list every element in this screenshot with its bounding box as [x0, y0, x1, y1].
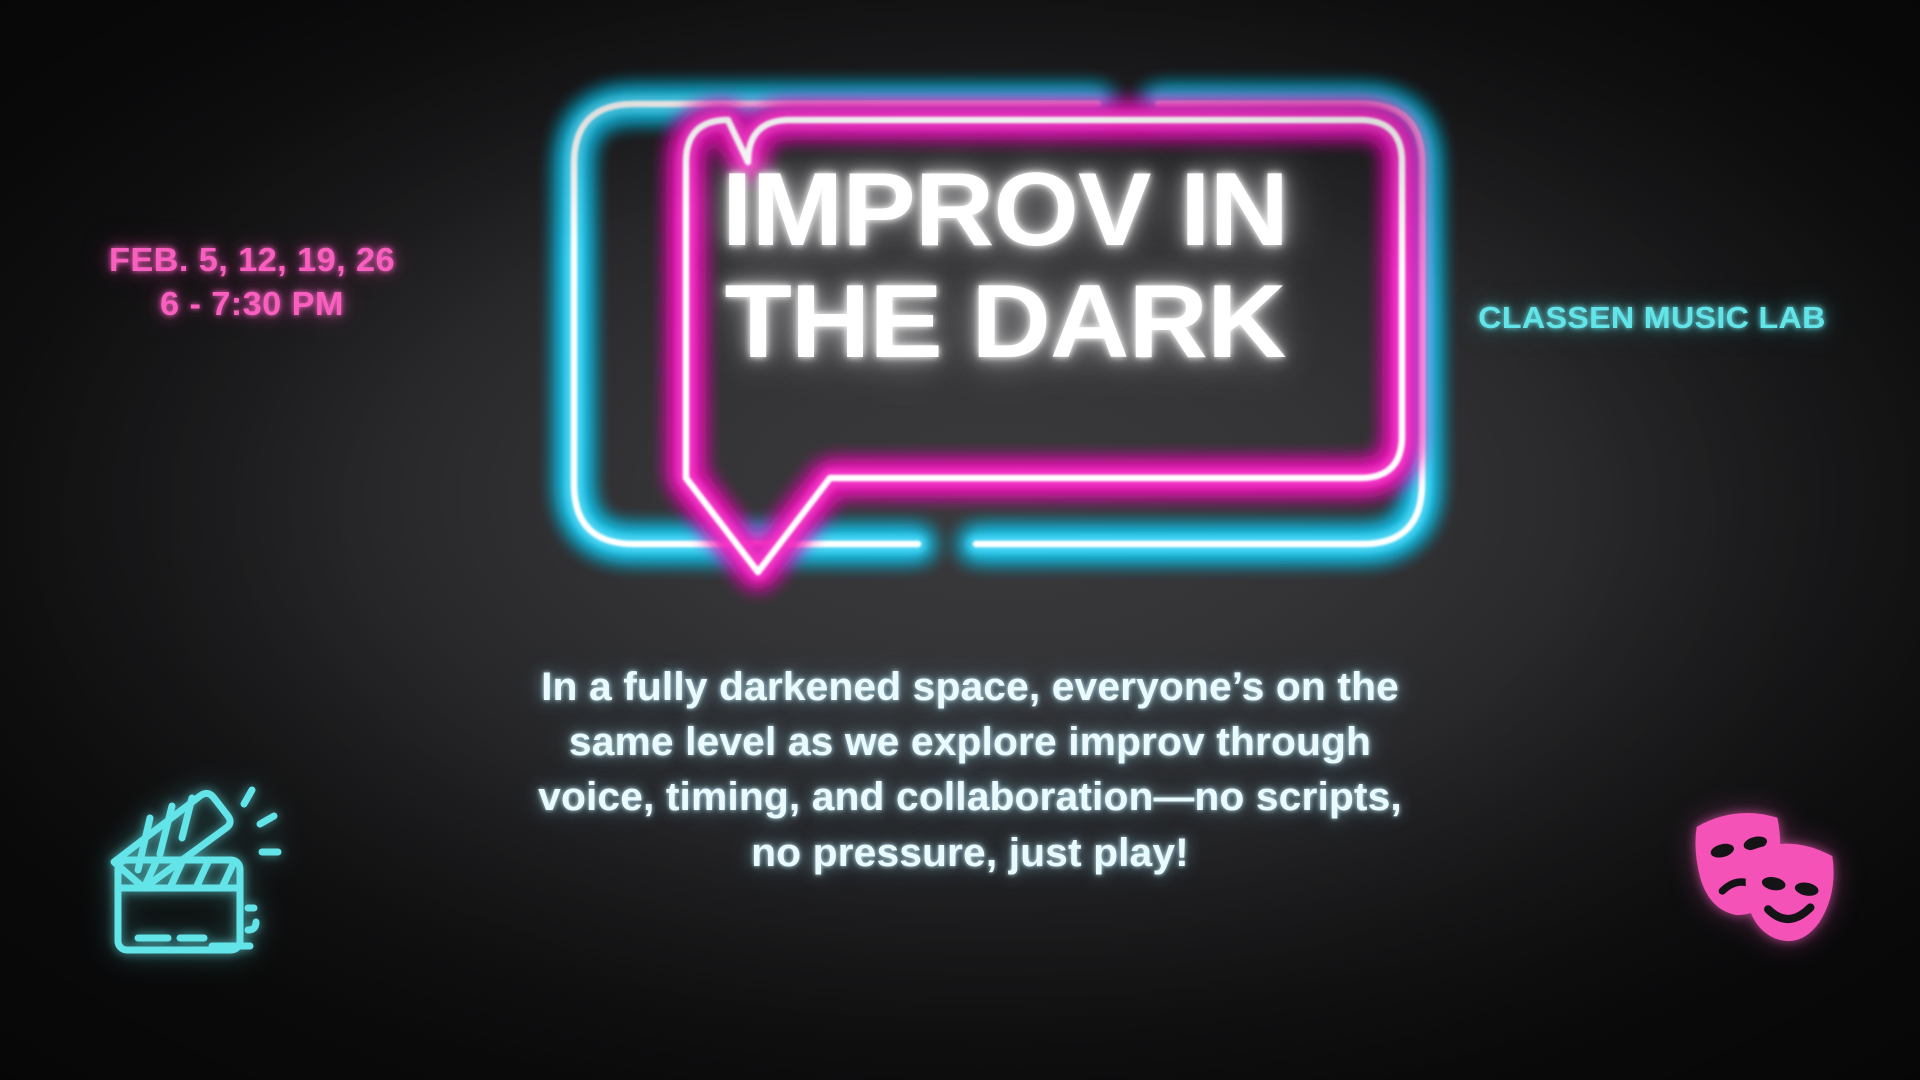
schedule-block: FEB. 5, 12, 19, 26 6 - 7:30 PM [52, 238, 452, 326]
schedule-time: 6 - 7:30 PM [44, 282, 460, 326]
schedule-dates: FEB. 5, 12, 19, 26 [44, 238, 460, 282]
description-line-4: no pressure, just play! [399, 826, 1541, 881]
poster-canvas: IMPROV IN THE DARK FEB. 5, 12, 19, 26 6 … [0, 0, 1920, 1080]
theater-masks-icon [1682, 792, 1847, 957]
page-title: IMPROV IN THE DARK [640, 160, 1370, 374]
description-line-3: voice, timing, and collaboration—no scri… [399, 770, 1541, 825]
description-line-2: same level as we explore improv through [399, 715, 1541, 770]
venue-block: CLASSEN MUSIC LAB [1392, 300, 1912, 336]
venue-name: CLASSEN MUSIC LAB [1382, 300, 1920, 336]
description-line-1: In a fully darkened space, everyone’s on… [399, 660, 1541, 715]
description-block: In a fully darkened space, everyone’s on… [410, 660, 1530, 881]
title-line-1: IMPROV IN [618, 160, 1392, 262]
comedy-mask [1746, 844, 1834, 941]
title-line-2: THE DARK [618, 272, 1392, 374]
clapperboard-icon [92, 768, 292, 968]
